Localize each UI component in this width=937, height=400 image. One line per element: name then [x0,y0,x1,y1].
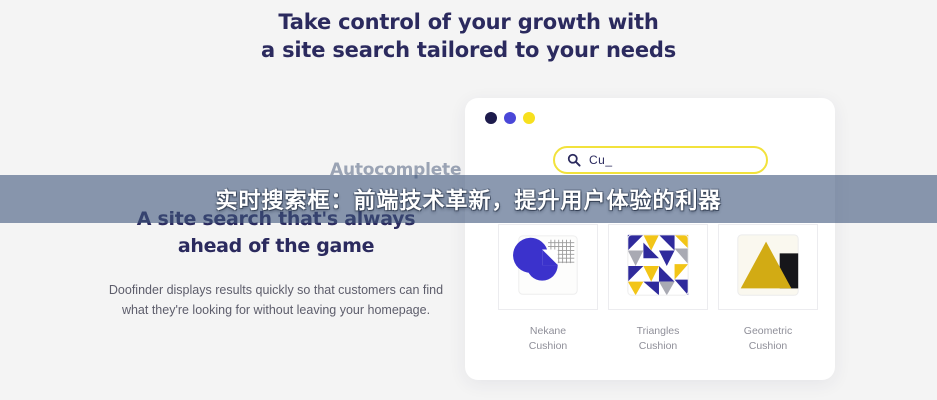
product-label: Nekane Cushion [498,324,598,354]
search-input-value: Cu_ [589,153,613,167]
product-results-grid: Nekane Cushion [498,224,818,354]
window-dot-minimize-icon[interactable] [504,112,516,124]
screenshot-stage: Take control of your growth with a site … [0,0,937,400]
site-search-input[interactable]: Cu_ [553,146,768,174]
product-label-line-2: Cushion [498,339,598,354]
product-label: Geometric Cushion [718,324,818,354]
nekane-cushion-thumb [498,224,598,310]
geometric-cushion-thumb [718,224,818,310]
product-label-line-2: Cushion [718,339,818,354]
window-dot-close-icon[interactable] [485,112,497,124]
left-column: A site search that's always ahead of the… [96,206,456,320]
window-control-dots [485,112,535,124]
product-card[interactable]: Geometric Cushion [718,224,818,354]
hero-headline-line-2: a site search tailored to your needs [0,36,937,64]
triangles-cushion-thumb [608,224,708,310]
product-label: Triangles Cushion [608,324,708,354]
product-label-line-2: Cushion [608,339,708,354]
body-copy-line-2: what they're looking for without leaving… [96,300,456,320]
product-label-line-1: Geometric [744,325,792,337]
window-dot-maximize-icon[interactable] [523,112,535,124]
hero-headline-line-1: Take control of your growth with [278,10,658,34]
browser-mockup-card: Cu_ [465,98,835,380]
product-card[interactable]: Nekane Cushion [498,224,598,354]
title-overlay-band: 实时搜索框：前端技术革新，提升用户体验的利器 [0,175,937,223]
product-label-line-1: Triangles [637,325,680,337]
search-icon [567,153,581,167]
body-copy: Doofinder displays results quickly so th… [96,280,456,320]
body-copy-line-1: Doofinder displays results quickly so th… [109,283,443,297]
product-label-line-1: Nekane [530,325,566,337]
product-card[interactable]: Triangles Cushion [608,224,708,354]
sub-headline-line-2: ahead of the game [96,233,456,260]
overlay-title-text: 实时搜索框：前端技术革新，提升用户体验的利器 [215,183,721,215]
hero-headline: Take control of your growth with a site … [0,8,937,64]
